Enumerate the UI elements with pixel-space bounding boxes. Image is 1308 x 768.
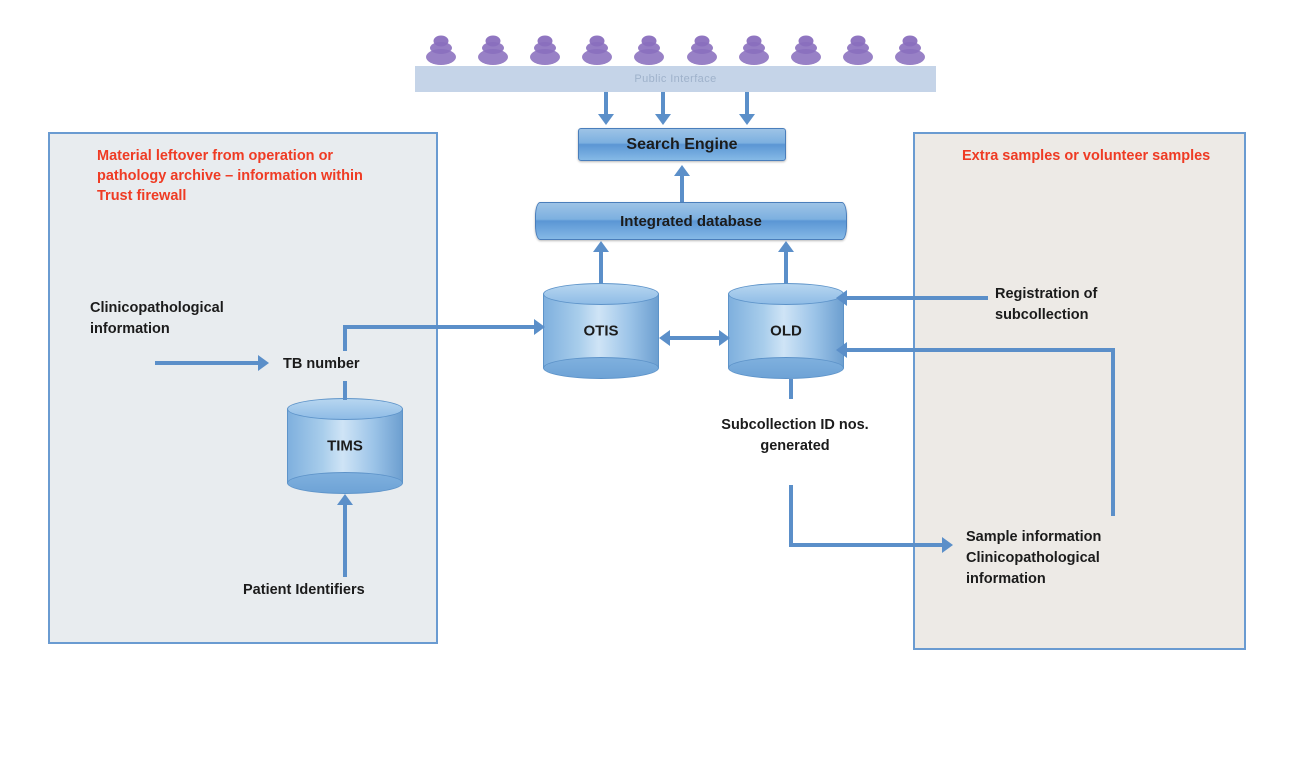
person-icon: [476, 32, 510, 66]
arrow-head-sample-old: [836, 342, 847, 358]
label-subcollection-id: Subcollection ID nos. generated: [695, 415, 895, 457]
arrow-shaft-sample-old-v: [1111, 348, 1115, 516]
arrow-shaft-pi-3: [745, 92, 749, 116]
arrow-head-clinico-tb: [258, 355, 269, 371]
person-icon: [685, 32, 719, 66]
arrow-shaft-patient-tims: [343, 505, 347, 577]
arrow-shaft-old-down: [789, 485, 793, 546]
person-icon: [580, 32, 614, 66]
cylinder-bottom: [728, 357, 844, 379]
integrated-database-box[interactable]: Integrated database: [535, 202, 847, 240]
arrow-shaft-db-search: [680, 176, 684, 202]
old-label: OLD: [728, 323, 844, 340]
label-sample-information: Sample information Clinicopathological i…: [966, 527, 1166, 590]
arrow-head-registration-old: [836, 290, 847, 306]
label-patient-identifiers: Patient Identifiers: [243, 580, 365, 601]
arrow-shaft-sample-old-h: [845, 348, 1115, 352]
old-database-cylinder[interactable]: OLD: [728, 283, 844, 379]
otis-label: OTIS: [543, 323, 659, 340]
arrow-shaft-clinico-tb: [155, 361, 260, 365]
arrow-head-otis-old-left: [659, 330, 670, 346]
tims-database-cylinder[interactable]: TIMS: [287, 398, 403, 494]
cylinder-top: [728, 283, 844, 305]
arrow-shaft-tims-tb: [343, 381, 347, 400]
right-panel-note: Extra samples or volunteer samples: [962, 146, 1222, 166]
arrow-shaft-old-sample: [789, 543, 945, 547]
person-icon: [893, 32, 927, 66]
arrow-head-pi-1: [598, 114, 614, 125]
public-interface-bar: Public Interface: [415, 66, 936, 92]
person-icon: [737, 32, 771, 66]
arrow-shaft-otis-db: [599, 252, 603, 285]
arrow-head-old-sample: [942, 537, 953, 553]
arrow-head-pi-3: [739, 114, 755, 125]
panel-trust-firewall: Material leftover from operation or path…: [48, 132, 438, 644]
arrow-shaft-pi-2: [661, 92, 665, 116]
person-icon: [528, 32, 562, 66]
arrow-shaft-old-down-stub: [789, 379, 793, 399]
person-icon: [789, 32, 823, 66]
cylinder-bottom: [543, 357, 659, 379]
arrow-shaft-tb-otis: [343, 325, 537, 329]
cylinder-top: [287, 398, 403, 420]
public-interface-label: Public Interface: [415, 66, 936, 92]
tims-label: TIMS: [287, 438, 403, 455]
arrow-shaft-pi-1: [604, 92, 608, 116]
person-icon: [424, 32, 458, 66]
left-panel-note: Material leftover from operation or path…: [97, 146, 367, 206]
arrow-head-db-search: [674, 165, 690, 176]
cylinder-top: [543, 283, 659, 305]
label-clinicopathological-information-left: Clinicopathological information: [90, 298, 300, 340]
public-users-group: [415, 30, 936, 66]
arrow-head-old-db: [778, 241, 794, 252]
arrow-shaft-registration-old: [845, 296, 988, 300]
arrow-head-otis-db: [593, 241, 609, 252]
otis-database-cylinder[interactable]: OTIS: [543, 283, 659, 379]
label-tb-number: TB number: [283, 354, 360, 375]
person-icon: [841, 32, 875, 66]
arrow-head-pi-2: [655, 114, 671, 125]
label-registration-of-subcollection: Registration of subcollection: [995, 284, 1185, 326]
diagram-canvas: Material leftover from operation or path…: [0, 0, 1308, 768]
arrow-shaft-otis-old: [668, 336, 722, 340]
cylinder-bottom: [287, 472, 403, 494]
person-icon: [632, 32, 666, 66]
arrow-head-patient-tims: [337, 494, 353, 505]
arrow-shaft-old-db: [784, 252, 788, 285]
search-engine-box[interactable]: Search Engine: [578, 128, 786, 161]
